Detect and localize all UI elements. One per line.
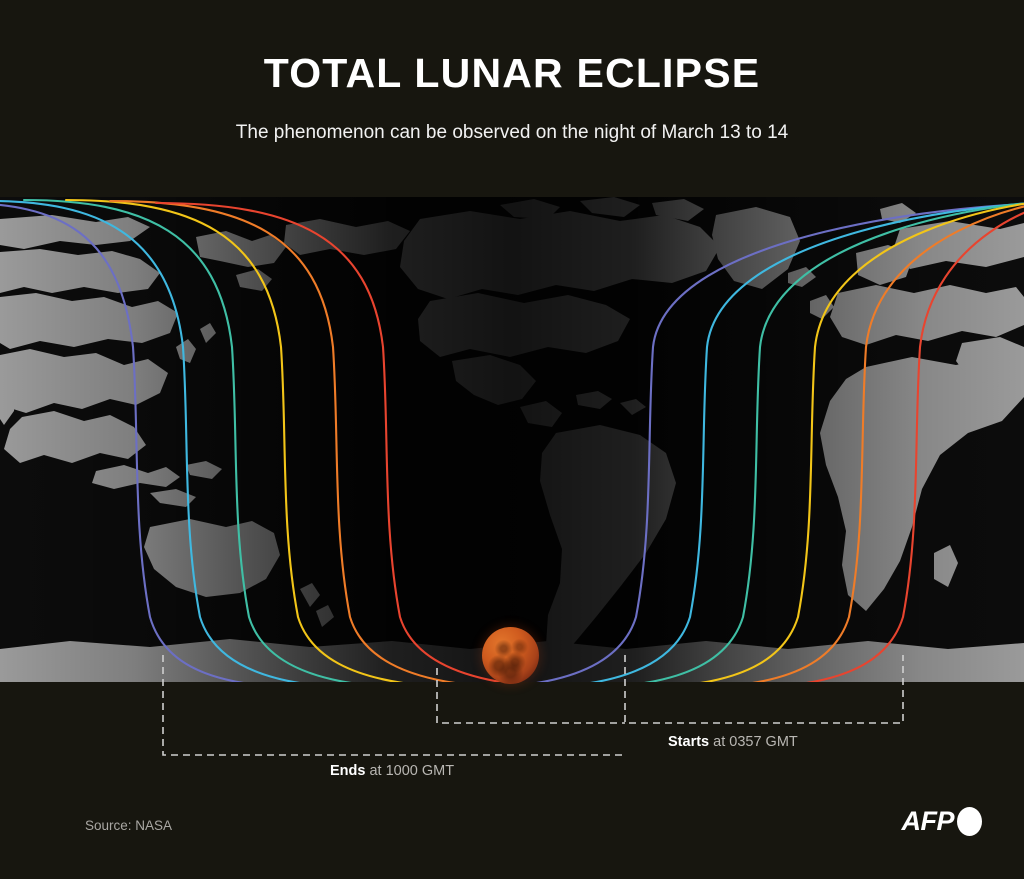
starts-bracket <box>625 655 903 723</box>
measure-brackets <box>0 0 1024 879</box>
infographic-root: TOTAL LUNAR ECLIPSE The phenomenon can b… <box>0 0 1024 879</box>
ends-bracket <box>163 655 625 755</box>
mid-bracket <box>437 668 625 723</box>
